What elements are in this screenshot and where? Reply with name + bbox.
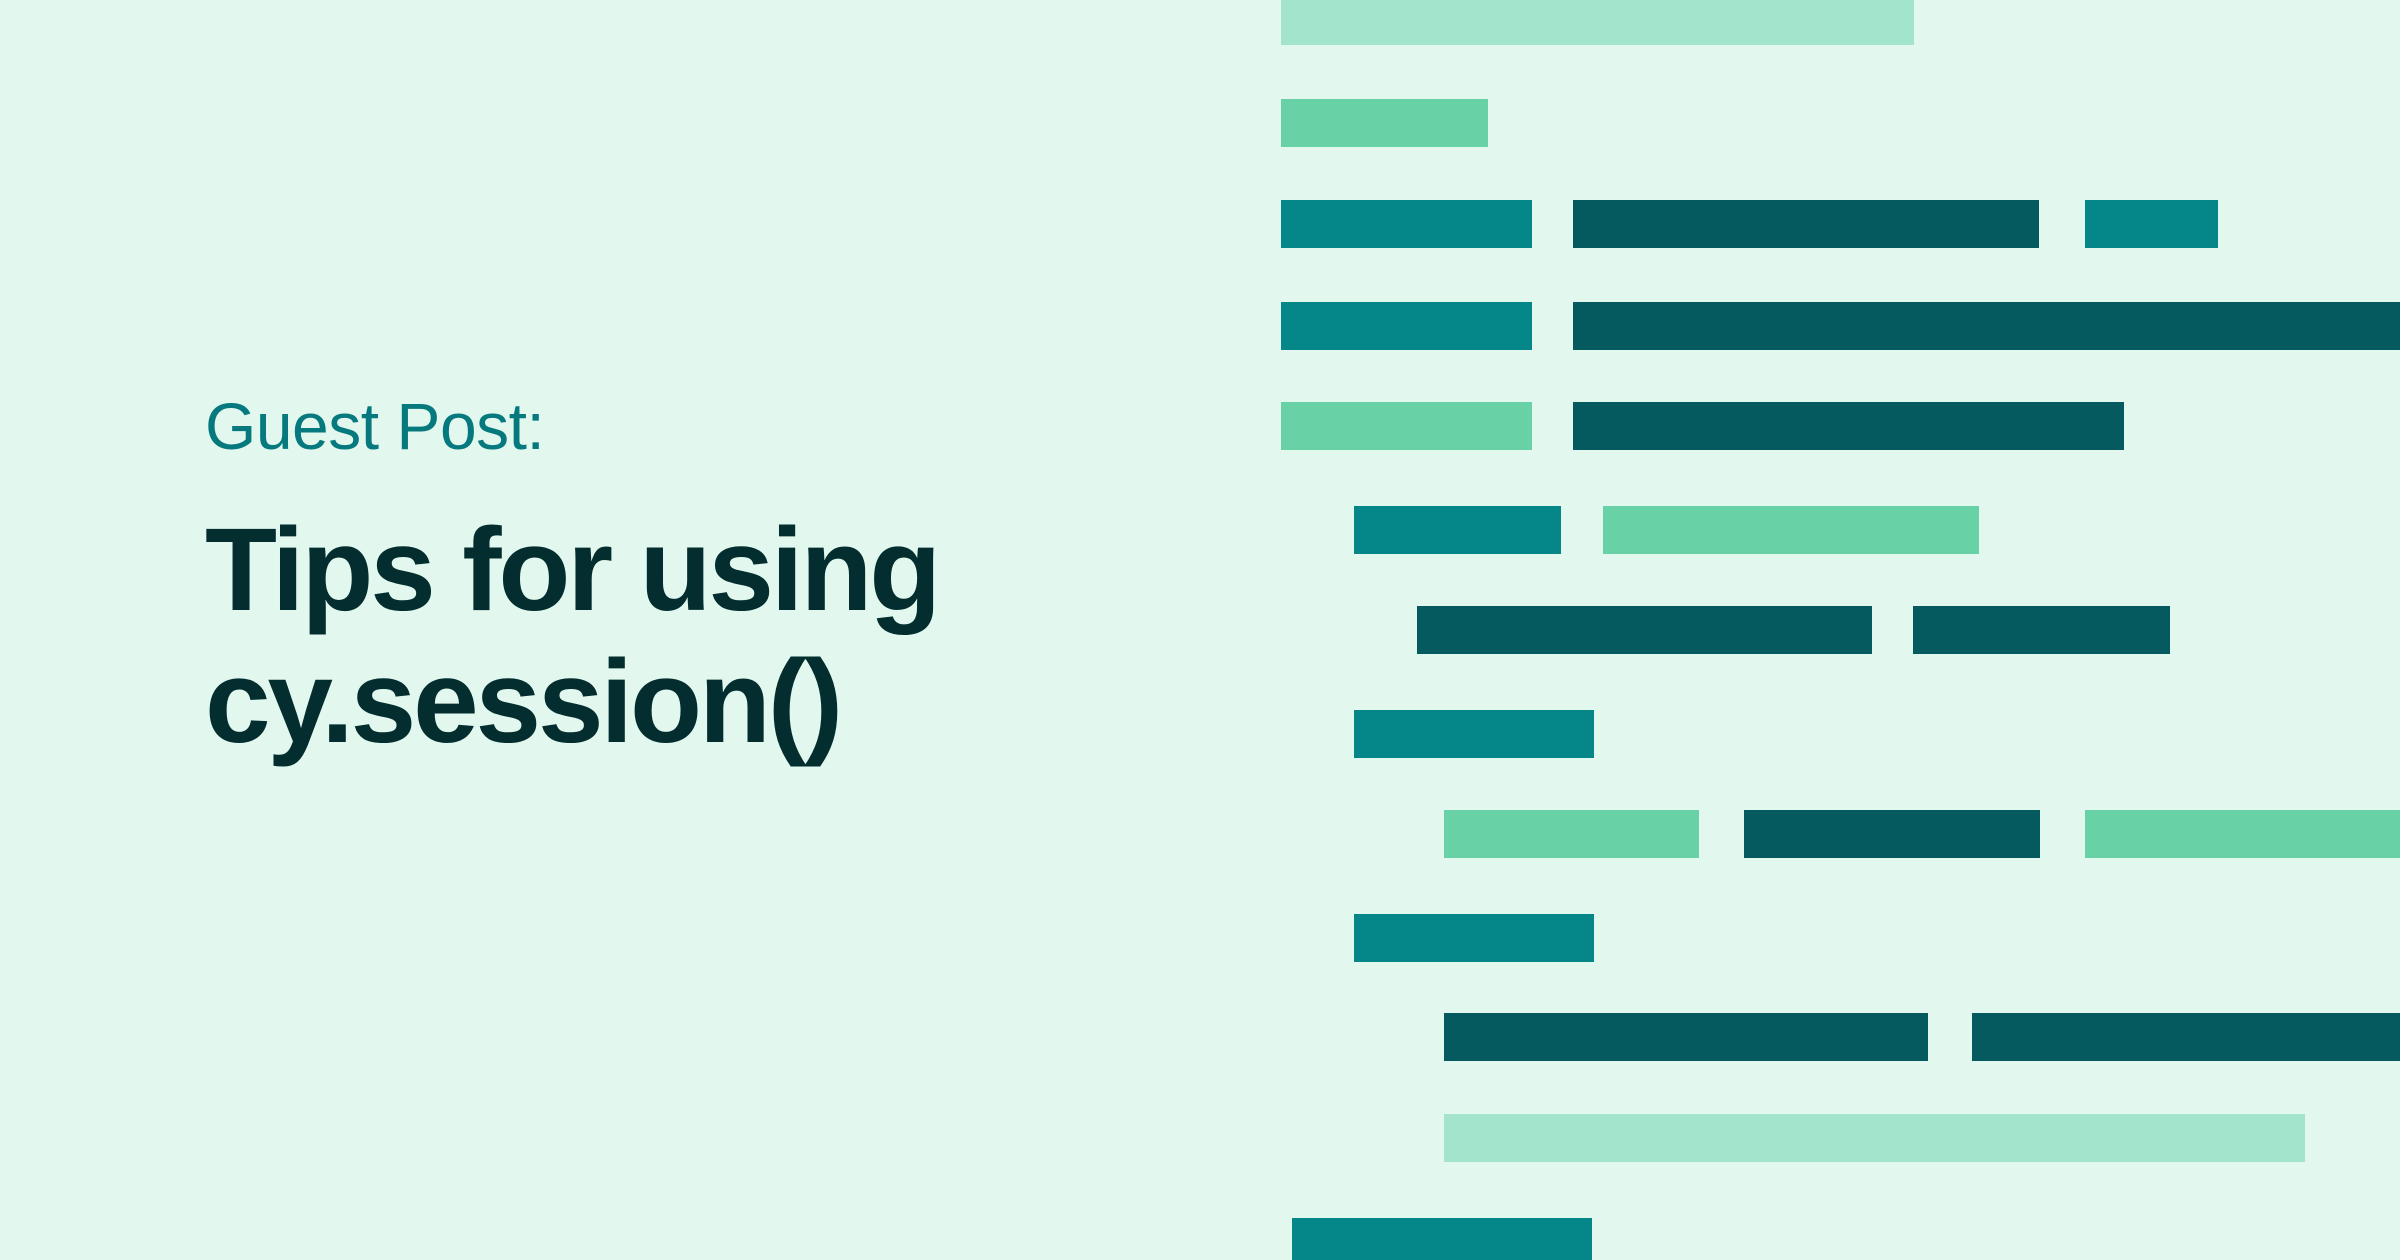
code-line xyxy=(0,99,2400,147)
page-title: Tips for using cy.session() xyxy=(205,504,1205,768)
code-line xyxy=(0,1013,2400,1061)
page-title-line-1: Tips for using xyxy=(205,504,1205,636)
code-line xyxy=(0,200,2400,248)
code-token xyxy=(1573,200,2039,248)
social-card: Guest Post: Tips for using cy.session() xyxy=(0,0,2400,1260)
code-token xyxy=(1444,810,1699,858)
code-line xyxy=(0,1218,2400,1260)
code-line xyxy=(0,302,2400,350)
code-token xyxy=(1354,506,1561,554)
hero-text-panel: Guest Post: Tips for using cy.session() xyxy=(205,388,1205,768)
code-token xyxy=(2085,810,2400,858)
code-token xyxy=(1573,302,2400,350)
code-token xyxy=(1417,606,1872,654)
code-token xyxy=(1281,200,1532,248)
code-token xyxy=(1913,606,2170,654)
code-token xyxy=(1744,810,2040,858)
code-token xyxy=(1444,1114,2305,1162)
code-token xyxy=(1972,1013,2400,1061)
code-token xyxy=(1354,914,1594,962)
code-token xyxy=(1354,710,1594,758)
code-token xyxy=(1444,1013,1928,1061)
page-title-line-2: cy.session() xyxy=(205,636,1205,768)
code-token xyxy=(1292,1218,1592,1260)
eyebrow-label: Guest Post: xyxy=(205,388,1205,466)
code-token xyxy=(1281,99,1488,147)
code-token xyxy=(1573,402,2124,450)
code-token xyxy=(1281,302,1532,350)
code-line xyxy=(0,810,2400,858)
code-line xyxy=(0,1114,2400,1162)
code-token xyxy=(2085,200,2218,248)
code-token xyxy=(1281,0,1914,45)
code-line xyxy=(0,0,2400,45)
code-token xyxy=(1603,506,1979,554)
code-token xyxy=(1281,402,1532,450)
code-line xyxy=(0,914,2400,962)
